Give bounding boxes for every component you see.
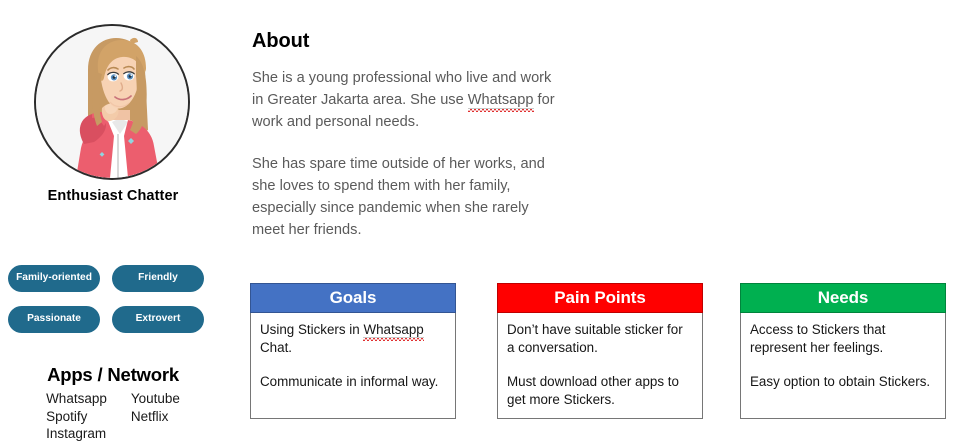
- goals-item-1-after: Chat.: [260, 340, 292, 355]
- about-section: About She is a young professional who li…: [252, 30, 562, 241]
- needs-box-header: Needs: [740, 283, 946, 313]
- apps-network-title: Apps / Network: [0, 364, 226, 386]
- goals-item-1: Using Stickers in Whatsapp Chat.: [260, 321, 446, 356]
- pain-points-box-header: Pain Points: [497, 283, 703, 313]
- app-item-netflix: Netflix: [131, 408, 180, 426]
- apps-network-section: Apps / Network Whatsapp Spotify Instagra…: [0, 364, 226, 443]
- needs-item-1: Access to Stickers that represent her fe…: [750, 321, 936, 356]
- pain-points-box: Pain Points Don’t have suitable sticker …: [497, 283, 703, 419]
- goals-box-header: Goals: [250, 283, 456, 313]
- app-item-instagram: Instagram: [46, 425, 107, 443]
- pain-points-box-body: Don’t have suitable sticker for a conver…: [497, 313, 703, 419]
- apps-column-right: Youtube Netflix: [131, 390, 180, 443]
- about-title: About: [252, 30, 562, 53]
- goals-item-1-misspelled-word: Whatsapp: [363, 322, 423, 338]
- about-paragraph-2: She has spare time outside of her works,…: [252, 153, 562, 242]
- goals-box: Goals Using Stickers in Whatsapp Chat. C…: [250, 283, 456, 419]
- persona-name: Enthusiast Chatter: [0, 188, 226, 204]
- needs-box-body: Access to Stickers that represent her fe…: [740, 313, 946, 419]
- trait-tag-list: Family-oriented Friendly Passionate Extr…: [8, 265, 208, 339]
- goals-item-1-before: Using Stickers in: [260, 322, 363, 337]
- app-item-youtube: Youtube: [131, 390, 180, 408]
- pain-points-item-2: Must download other apps to get more Sti…: [507, 373, 693, 408]
- pain-points-item-1: Don’t have suitable sticker for a conver…: [507, 321, 693, 356]
- avatar-circle: [34, 24, 190, 180]
- trait-tag-passionate[interactable]: Passionate: [8, 306, 100, 333]
- trait-tag-family-oriented[interactable]: Family-oriented: [8, 265, 100, 292]
- avatar-illustration-icon: [36, 26, 188, 178]
- apps-network-columns: Whatsapp Spotify Instagram Youtube Netfl…: [0, 390, 226, 443]
- needs-box: Needs Access to Stickers that represent …: [740, 283, 946, 419]
- needs-item-2: Easy option to obtain Stickers.: [750, 373, 936, 391]
- about-paragraph-1: She is a young professional who live and…: [252, 67, 562, 134]
- about-p1-misspelled-word: Whatsapp: [468, 92, 534, 109]
- persona-card: Enthusiast Chatter Family-oriented Frien…: [0, 0, 232, 447]
- app-item-spotify: Spotify: [46, 408, 107, 426]
- avatar: [34, 24, 190, 180]
- trait-tag-extrovert[interactable]: Extrovert: [112, 306, 204, 333]
- apps-column-left: Whatsapp Spotify Instagram: [46, 390, 107, 443]
- goals-box-body: Using Stickers in Whatsapp Chat. Communi…: [250, 313, 456, 419]
- goals-item-2: Communicate in informal way.: [260, 373, 446, 391]
- trait-tag-friendly[interactable]: Friendly: [112, 265, 204, 292]
- app-item-whatsapp: Whatsapp: [46, 390, 107, 408]
